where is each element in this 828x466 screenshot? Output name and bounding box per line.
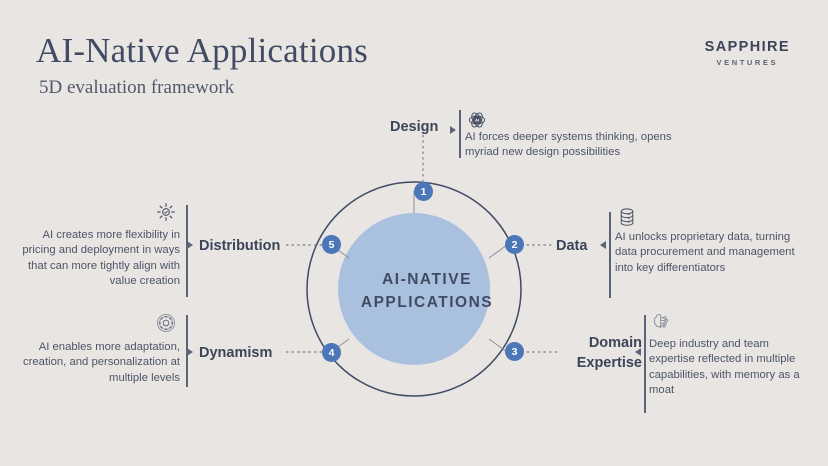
divider-dynamism bbox=[186, 315, 188, 387]
label-domain-expertise[interactable]: Domain Expertise bbox=[545, 333, 642, 373]
brain-circuit-icon bbox=[650, 311, 672, 333]
center-label: AI-NATIVE APPLICATIONS bbox=[332, 268, 522, 314]
badge-1[interactable]: 1 bbox=[414, 182, 433, 201]
label-dynamism[interactable]: Dynamism bbox=[199, 344, 272, 362]
arrow-design bbox=[450, 126, 456, 134]
center-label-line1: AI-NATIVE bbox=[332, 268, 522, 291]
badge-2[interactable]: 2 bbox=[505, 235, 524, 254]
database-icon bbox=[616, 206, 638, 228]
badge-5[interactable]: 5 bbox=[322, 235, 341, 254]
description-design: AI forces deeper systems thinking, opens… bbox=[465, 130, 695, 161]
sun-burst-icon bbox=[155, 201, 177, 223]
label-domain-line1: Domain bbox=[545, 333, 642, 353]
gear-circle-icon bbox=[155, 312, 177, 334]
atom-ai-icon: AI bbox=[466, 109, 488, 131]
center-label-line2: APPLICATIONS bbox=[332, 291, 522, 314]
arrow-dynamism bbox=[187, 348, 193, 356]
badge-4[interactable]: 4 bbox=[322, 343, 341, 362]
svg-text:AI: AI bbox=[475, 118, 479, 123]
badge-3[interactable]: 3 bbox=[505, 342, 524, 361]
arrow-distribution bbox=[187, 241, 193, 249]
description-data: AI unlocks proprietary data, turning dat… bbox=[615, 230, 800, 276]
divider-distribution bbox=[186, 205, 188, 297]
divider-design bbox=[459, 110, 461, 158]
divider-domain-expertise bbox=[644, 315, 646, 413]
description-distribution: AI creates more flexibility in pricing a… bbox=[18, 228, 180, 290]
label-domain-line2: Expertise bbox=[545, 353, 642, 373]
arrow-data bbox=[600, 241, 606, 249]
slide-canvas: AI-Native Applications 5D evaluation fra… bbox=[0, 0, 828, 466]
description-domain-expertise: Deep industry and team expertise reflect… bbox=[649, 337, 809, 399]
label-design[interactable]: Design bbox=[390, 118, 438, 136]
description-dynamism: AI enables more adaptation, creation, an… bbox=[22, 340, 180, 386]
divider-data bbox=[609, 212, 611, 298]
label-distribution[interactable]: Distribution bbox=[199, 237, 280, 255]
label-data[interactable]: Data bbox=[556, 237, 587, 255]
